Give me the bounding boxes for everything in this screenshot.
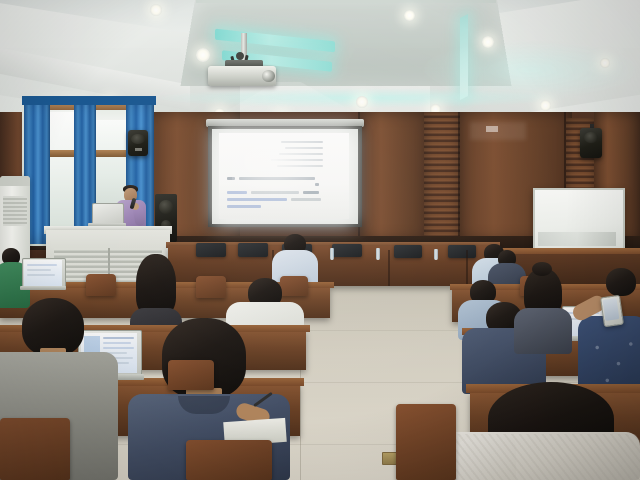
ceiling-downlight <box>482 36 494 48</box>
laptop-content-line <box>103 337 134 339</box>
laptop-content-line <box>27 274 55 276</box>
laptop-content-line <box>103 347 134 349</box>
slide-text-line <box>227 205 261 208</box>
wall-sign <box>486 126 498 132</box>
dais-seam <box>466 250 468 286</box>
dais-monitor <box>394 245 422 258</box>
chair[interactable] <box>280 276 308 296</box>
slatted-wood-panel <box>424 112 460 242</box>
speaker-cone-icon <box>131 134 145 144</box>
curtain-valance <box>22 96 156 105</box>
ceiling-downlight <box>404 10 415 21</box>
dais-monitor <box>238 243 268 257</box>
ceiling-downlight <box>150 4 162 16</box>
smartphone-screen <box>603 298 620 321</box>
chair[interactable] <box>186 440 272 480</box>
dais-monitor <box>196 243 226 257</box>
ceiling-downlight <box>196 48 210 62</box>
projector-lens-icon <box>262 70 275 82</box>
speaker-badge <box>135 148 142 151</box>
wood-panel <box>360 112 430 240</box>
ceiling-downlight <box>540 100 551 111</box>
water-bottle <box>330 248 334 260</box>
chair[interactable] <box>0 418 70 480</box>
ceiling-glow-right <box>420 40 640 100</box>
dais-seam <box>388 250 390 286</box>
desk-top <box>496 248 640 254</box>
chair[interactable] <box>168 360 214 390</box>
laptop-content-line <box>103 342 131 344</box>
air-conditioner-top <box>0 176 30 186</box>
lace-texture <box>440 434 640 480</box>
projector-adjust-knob <box>236 52 244 60</box>
water-bottle <box>434 249 438 260</box>
lecture-hall-photo <box>0 0 640 480</box>
laptop-content-line <box>27 269 51 271</box>
speaker-cone-icon <box>584 132 598 143</box>
laptop-base <box>20 286 66 290</box>
coffer-edge <box>196 0 496 3</box>
chair[interactable] <box>396 404 456 480</box>
water-bottle <box>376 248 380 260</box>
air-conditioner-vent <box>3 196 27 226</box>
speaker-cone-icon <box>159 200 173 214</box>
hair-bun <box>532 262 552 276</box>
laptop-content-line <box>27 264 57 266</box>
projector-hotspot <box>232 140 336 200</box>
chair[interactable] <box>196 276 226 298</box>
ceiling-downlight <box>600 58 610 68</box>
wall-reflection <box>470 122 526 140</box>
attendee-head <box>606 268 636 296</box>
dais-monitor <box>448 245 476 258</box>
whiteboard-smudge <box>538 232 616 246</box>
attendee-long-hair <box>136 254 176 316</box>
panel-seam <box>458 112 460 240</box>
attendee-torso <box>514 308 572 354</box>
chair[interactable] <box>86 274 116 296</box>
dais-monitor <box>332 244 362 257</box>
ceiling-downlight <box>356 96 368 108</box>
